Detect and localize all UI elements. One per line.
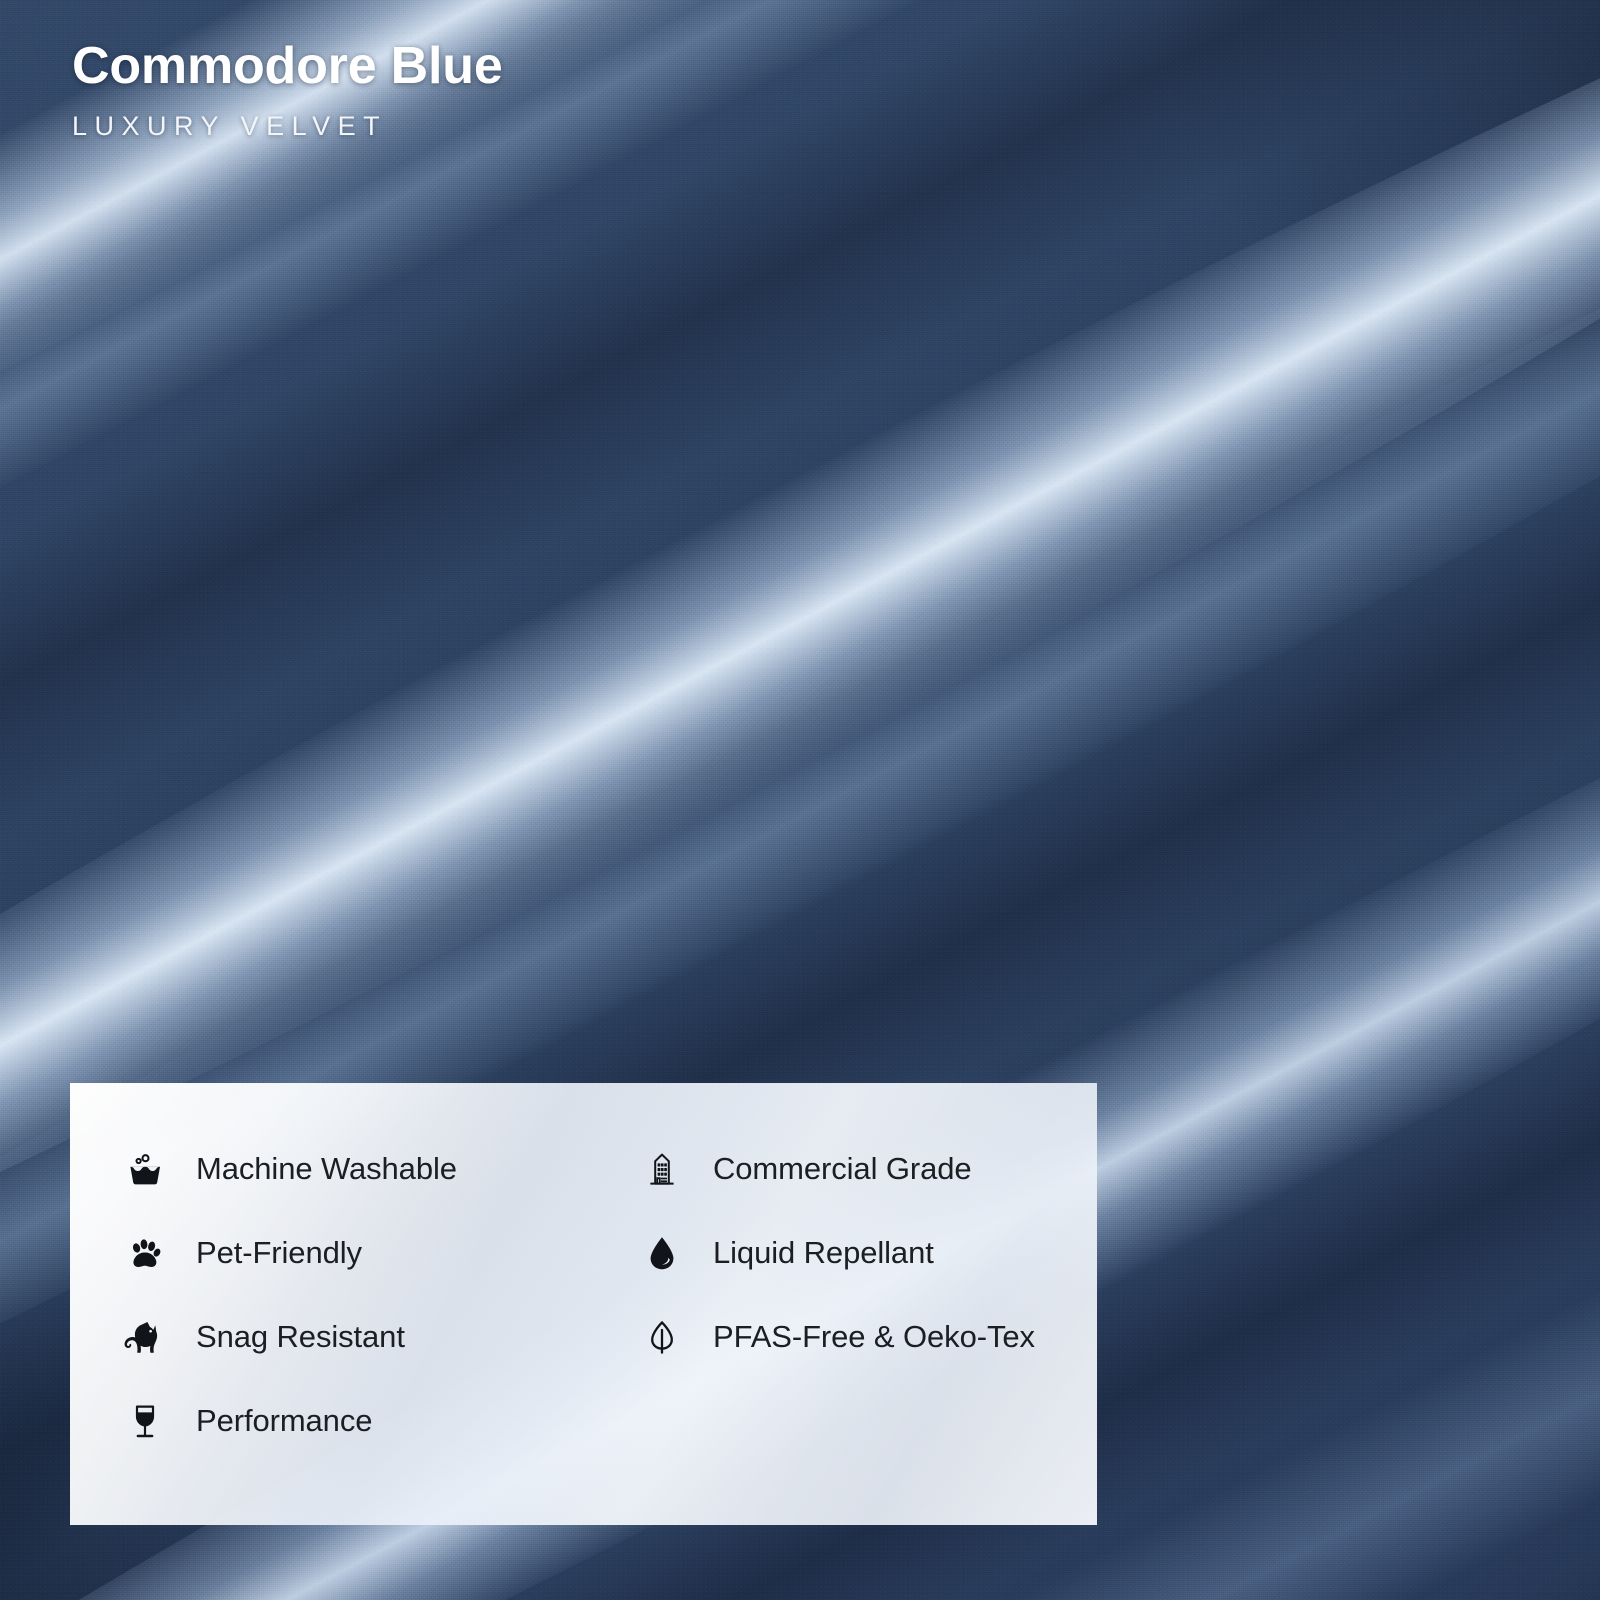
wine-glass-icon [116, 1401, 174, 1441]
fabric-swatch-card: Commodore Blue LUXURY VELVET Machine Was… [0, 0, 1600, 1600]
water-droplet-icon [633, 1233, 691, 1273]
cat-icon [116, 1317, 174, 1357]
feature-label: Machine Washable [196, 1151, 457, 1187]
swatch-header: Commodore Blue LUXURY VELVET [72, 38, 503, 140]
paw-print-icon [116, 1233, 174, 1273]
feature-label: Commercial Grade [713, 1151, 972, 1187]
feature-item-machine-washable: Machine Washable [116, 1127, 633, 1211]
feature-item-snag-resistant: Snag Resistant [116, 1295, 633, 1379]
feature-item-pfas-free-oeko-tex: PFAS-Free & Oeko-Tex [633, 1295, 1097, 1379]
feature-panel: Machine Washable [70, 1083, 1097, 1525]
feature-item-commercial-grade: Commercial Grade [633, 1127, 1097, 1211]
leaf-icon [633, 1317, 691, 1357]
feature-item-performance: Performance [116, 1379, 633, 1463]
feature-label: Pet-Friendly [196, 1235, 362, 1271]
page-title: Commodore Blue [72, 38, 503, 94]
page-subtitle: LUXURY VELVET [72, 113, 503, 140]
feature-label: Liquid Repellant [713, 1235, 934, 1271]
feature-item-liquid-repellant: Liquid Repellant [633, 1211, 1097, 1295]
feature-label: Performance [196, 1403, 372, 1439]
feature-label: PFAS-Free & Oeko-Tex [713, 1319, 1035, 1355]
feature-label: Snag Resistant [196, 1319, 405, 1355]
feature-grid: Machine Washable [70, 1083, 1097, 1463]
washing-bucket-icon [116, 1149, 174, 1189]
building-icon [633, 1149, 691, 1189]
feature-item-pet-friendly: Pet-Friendly [116, 1211, 633, 1295]
